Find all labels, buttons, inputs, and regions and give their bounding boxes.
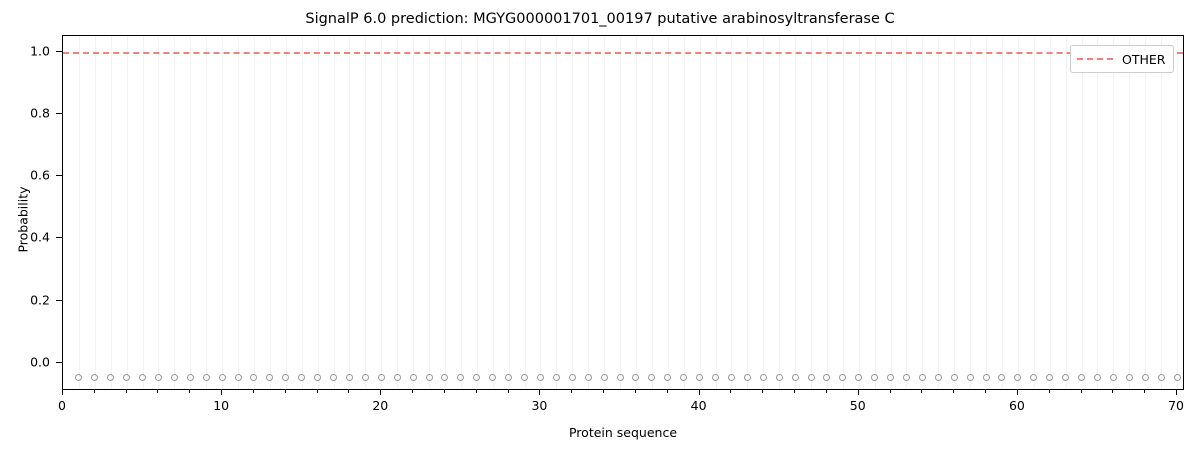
gridline bbox=[1018, 36, 1019, 389]
sequence-marker bbox=[903, 374, 910, 381]
sequence-marker bbox=[1158, 374, 1165, 381]
sequence-marker bbox=[410, 374, 417, 381]
sequence-marker bbox=[823, 374, 830, 381]
gridline bbox=[349, 36, 350, 389]
gridline bbox=[334, 36, 335, 389]
gridline bbox=[986, 36, 987, 389]
x-axis-tick bbox=[62, 390, 63, 395]
gridline bbox=[302, 36, 303, 389]
sequence-marker bbox=[314, 374, 321, 381]
gridline bbox=[1050, 36, 1051, 389]
x-axis-minor-tick bbox=[476, 390, 477, 393]
sequence-marker bbox=[585, 374, 592, 381]
sequence-marker bbox=[617, 374, 624, 381]
gridline bbox=[525, 36, 526, 389]
x-axis-minor-tick bbox=[953, 390, 954, 393]
sequence-marker bbox=[664, 374, 671, 381]
gridline bbox=[1002, 36, 1003, 389]
sequence-marker bbox=[1030, 374, 1037, 381]
x-axis-tick-label: 30 bbox=[509, 398, 569, 413]
x-axis-tick bbox=[1017, 390, 1018, 395]
gridline bbox=[509, 36, 510, 389]
legend-swatch-other bbox=[1077, 58, 1113, 60]
gridline bbox=[381, 36, 382, 389]
y-axis-tick-label: 0.6 bbox=[0, 168, 50, 183]
sequence-marker bbox=[330, 374, 337, 381]
x-axis-tick bbox=[699, 390, 700, 395]
gridline bbox=[731, 36, 732, 389]
sequence-marker bbox=[919, 374, 926, 381]
sequence-marker bbox=[1174, 374, 1181, 381]
x-axis-tick bbox=[380, 390, 381, 395]
gridline bbox=[365, 36, 366, 389]
y-axis-tick-label: 0.0 bbox=[0, 354, 50, 369]
x-axis-minor-tick bbox=[253, 390, 254, 393]
sequence-marker bbox=[776, 374, 783, 381]
gridline bbox=[397, 36, 398, 389]
sequence-marker bbox=[967, 374, 974, 381]
x-axis-minor-tick bbox=[1081, 390, 1082, 393]
gridline bbox=[1082, 36, 1083, 389]
sequence-marker bbox=[489, 374, 496, 381]
x-axis-minor-tick bbox=[985, 390, 986, 393]
gridline bbox=[190, 36, 191, 389]
sequence-marker bbox=[696, 374, 703, 381]
x-axis-tick-label: 40 bbox=[669, 398, 729, 413]
x-axis-minor-tick bbox=[126, 390, 127, 393]
x-axis-minor-tick bbox=[1049, 390, 1050, 393]
sequence-marker bbox=[1014, 374, 1021, 381]
series-other-line bbox=[63, 52, 1183, 54]
gridline bbox=[143, 36, 144, 389]
y-axis-tick-label: 0.2 bbox=[0, 292, 50, 307]
x-axis-tick-label: 70 bbox=[1146, 398, 1200, 413]
x-axis-minor-tick bbox=[508, 390, 509, 393]
gridline bbox=[286, 36, 287, 389]
gridline bbox=[875, 36, 876, 389]
gridline bbox=[1034, 36, 1035, 389]
gridline bbox=[668, 36, 669, 389]
sequence-marker bbox=[1078, 374, 1085, 381]
gridline bbox=[318, 36, 319, 389]
sequence-marker bbox=[601, 374, 608, 381]
sequence-marker bbox=[394, 374, 401, 381]
gridline bbox=[95, 36, 96, 389]
sequence-marker bbox=[839, 374, 846, 381]
sequence-marker bbox=[1062, 374, 1069, 381]
sequence-marker bbox=[553, 374, 560, 381]
x-axis-minor-tick bbox=[603, 390, 604, 393]
gridline bbox=[477, 36, 478, 389]
x-axis-minor-tick bbox=[762, 390, 763, 393]
sequence-marker bbox=[1110, 374, 1117, 381]
sequence-marker bbox=[521, 374, 528, 381]
x-axis-minor-tick bbox=[412, 390, 413, 393]
gridline bbox=[79, 36, 80, 389]
sequence-marker bbox=[250, 374, 257, 381]
chart-title: SignalP 6.0 prediction: MGYG000001701_00… bbox=[0, 11, 1200, 27]
sequence-marker bbox=[1142, 374, 1149, 381]
x-axis-tick bbox=[221, 390, 222, 395]
gridline bbox=[1129, 36, 1130, 389]
gridline bbox=[652, 36, 653, 389]
sequence-marker bbox=[632, 374, 639, 381]
sequence-marker bbox=[457, 374, 464, 381]
gridline bbox=[811, 36, 812, 389]
gridline bbox=[429, 36, 430, 389]
x-axis-minor-tick bbox=[157, 390, 158, 393]
gridline bbox=[954, 36, 955, 389]
y-axis-tick-label: 0.8 bbox=[0, 105, 50, 120]
gridline bbox=[556, 36, 557, 389]
x-axis-minor-tick bbox=[285, 390, 286, 393]
gridline bbox=[238, 36, 239, 389]
sequence-marker bbox=[441, 374, 448, 381]
gridline bbox=[700, 36, 701, 389]
gridline bbox=[1097, 36, 1098, 389]
x-axis-minor-tick bbox=[317, 390, 318, 393]
gridline bbox=[827, 36, 828, 389]
sequence-marker bbox=[1094, 374, 1101, 381]
sequence-marker bbox=[792, 374, 799, 381]
sequence-marker bbox=[1126, 374, 1133, 381]
gridline bbox=[763, 36, 764, 389]
gridline bbox=[127, 36, 128, 389]
sequence-marker bbox=[155, 374, 162, 381]
sequence-marker bbox=[983, 374, 990, 381]
gridline bbox=[843, 36, 844, 389]
sequence-marker bbox=[107, 374, 114, 381]
sequence-marker bbox=[505, 374, 512, 381]
sequence-marker bbox=[712, 374, 719, 381]
sequence-marker bbox=[998, 374, 1005, 381]
gridline bbox=[922, 36, 923, 389]
x-axis-minor-tick bbox=[189, 390, 190, 393]
sequence-marker bbox=[808, 374, 815, 381]
gridline bbox=[588, 36, 589, 389]
sequence-marker bbox=[187, 374, 194, 381]
x-axis-tick bbox=[539, 390, 540, 395]
gridline bbox=[970, 36, 971, 389]
sequence-marker bbox=[935, 374, 942, 381]
sequence-marker bbox=[569, 374, 576, 381]
x-axis-label: Protein sequence bbox=[62, 425, 1184, 440]
gridline bbox=[906, 36, 907, 389]
sequence-marker bbox=[648, 374, 655, 381]
gridline bbox=[779, 36, 780, 389]
sequence-marker bbox=[123, 374, 130, 381]
sequence-marker bbox=[887, 374, 894, 381]
gridline bbox=[174, 36, 175, 389]
sequence-marker bbox=[951, 374, 958, 381]
gridline bbox=[254, 36, 255, 389]
x-axis-minor-tick bbox=[94, 390, 95, 393]
x-axis-minor-tick bbox=[348, 390, 349, 393]
x-axis-minor-tick bbox=[1112, 390, 1113, 393]
gridline bbox=[461, 36, 462, 389]
gridline bbox=[270, 36, 271, 389]
sequence-marker bbox=[760, 374, 767, 381]
x-axis-minor-tick bbox=[635, 390, 636, 393]
sequence-marker bbox=[171, 374, 178, 381]
sequence-marker bbox=[282, 374, 289, 381]
sequence-marker bbox=[266, 374, 273, 381]
gridline bbox=[1113, 36, 1114, 389]
sequence-marker bbox=[362, 374, 369, 381]
x-axis-minor-tick bbox=[890, 390, 891, 393]
x-axis-minor-tick bbox=[444, 390, 445, 393]
sequence-marker bbox=[298, 374, 305, 381]
x-axis-tick bbox=[858, 390, 859, 395]
gridline bbox=[1161, 36, 1162, 389]
gridline bbox=[572, 36, 573, 389]
gridline bbox=[636, 36, 637, 389]
x-axis-tick-label: 20 bbox=[350, 398, 410, 413]
x-axis-minor-tick bbox=[794, 390, 795, 393]
plot-area: MSAVKRVQTTATVAGLIAFVLLLLVPFLPVKQTESSVSWP… bbox=[62, 35, 1184, 390]
y-axis-tick-label: 0.4 bbox=[0, 230, 50, 245]
x-axis-tick bbox=[1176, 390, 1177, 395]
sequence-marker bbox=[219, 374, 226, 381]
gridline bbox=[222, 36, 223, 389]
sequence-marker bbox=[680, 374, 687, 381]
gridline bbox=[1066, 36, 1067, 389]
x-axis-tick-label: 60 bbox=[987, 398, 1047, 413]
x-axis-minor-tick bbox=[826, 390, 827, 393]
sequence-marker bbox=[235, 374, 242, 381]
sequence-marker bbox=[91, 374, 98, 381]
sequence-marker bbox=[473, 374, 480, 381]
gridline bbox=[493, 36, 494, 389]
gridline bbox=[604, 36, 605, 389]
gridline bbox=[413, 36, 414, 389]
sequence-marker bbox=[1046, 374, 1053, 381]
gridline bbox=[206, 36, 207, 389]
x-axis-tick-label: 0 bbox=[32, 398, 92, 413]
gridline bbox=[716, 36, 717, 389]
gridline bbox=[445, 36, 446, 389]
x-axis-minor-tick bbox=[571, 390, 572, 393]
gridline bbox=[859, 36, 860, 389]
sequence-marker bbox=[378, 374, 385, 381]
x-axis-minor-tick bbox=[921, 390, 922, 393]
sequence-marker bbox=[744, 374, 751, 381]
sequence-marker bbox=[426, 374, 433, 381]
gridline bbox=[684, 36, 685, 389]
gridline bbox=[1145, 36, 1146, 389]
signalp-prediction-figure: SignalP 6.0 prediction: MGYG000001701_00… bbox=[0, 0, 1200, 450]
gridline bbox=[158, 36, 159, 389]
y-axis-tick-label: 1.0 bbox=[0, 43, 50, 58]
sequence-marker bbox=[855, 374, 862, 381]
gridline bbox=[111, 36, 112, 389]
x-axis-minor-tick bbox=[730, 390, 731, 393]
gridline bbox=[891, 36, 892, 389]
x-axis-tick-label: 10 bbox=[191, 398, 251, 413]
sequence-marker bbox=[75, 374, 82, 381]
x-axis-minor-tick bbox=[1144, 390, 1145, 393]
gridline bbox=[540, 36, 541, 389]
gridline bbox=[795, 36, 796, 389]
sequence-marker bbox=[139, 374, 146, 381]
x-axis-minor-tick bbox=[667, 390, 668, 393]
sequence-marker bbox=[728, 374, 735, 381]
x-axis-tick-label: 50 bbox=[828, 398, 888, 413]
legend[interactable]: OTHER bbox=[1070, 45, 1174, 73]
gridline bbox=[747, 36, 748, 389]
sequence-marker bbox=[346, 374, 353, 381]
legend-label-other: OTHER bbox=[1122, 52, 1165, 67]
gridline bbox=[938, 36, 939, 389]
sequence-marker bbox=[537, 374, 544, 381]
sequence-marker bbox=[871, 374, 878, 381]
gridline bbox=[1177, 36, 1178, 389]
sequence-marker bbox=[203, 374, 210, 381]
gridline bbox=[620, 36, 621, 389]
